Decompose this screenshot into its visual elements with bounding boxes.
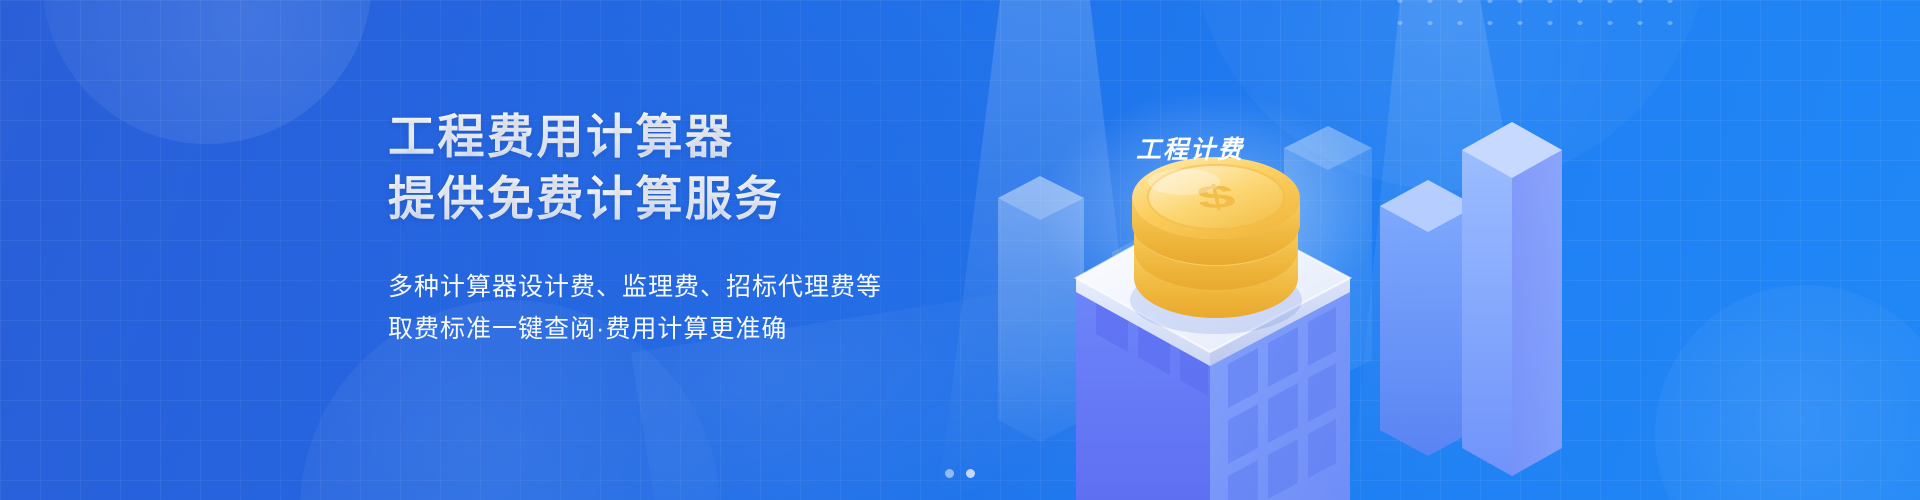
hero-headline-line1: 工程费用计算器 (388, 108, 882, 166)
hero-subtitle-line1: 多种计算器设计费、监理费、招标代理费等 (388, 266, 882, 308)
carousel-dot-2[interactable] (966, 469, 975, 478)
hero-banner: 工程费用计算器 提供免费计算服务 多种计算器设计费、监理费、招标代理费等 取费标… (0, 0, 1920, 500)
hero-headline-line2: 提供免费计算服务 (388, 170, 882, 228)
illustration-badge-label: 工程计费 (1136, 136, 1245, 164)
coin-stack: $ (1130, 157, 1302, 334)
carousel-dot-1[interactable] (945, 469, 954, 478)
hero-subtitle-line2: 取费标准一键查阅·费用计算更准确 (388, 308, 882, 350)
decorative-circle-top-left (42, 0, 372, 144)
hero-illustration: $ 工程计费 (880, 0, 1920, 500)
hero-subtitle-block: 多种计算器设计费、监理费、招标代理费等 取费标准一键查阅·费用计算更准确 (388, 266, 882, 350)
hero-copy-block: 工程费用计算器 提供免费计算服务 多种计算器设计费、监理费、招标代理费等 取费标… (388, 108, 882, 350)
illustration-badge: 工程计费 (1136, 136, 1245, 164)
carousel-dots[interactable] (0, 469, 1920, 478)
